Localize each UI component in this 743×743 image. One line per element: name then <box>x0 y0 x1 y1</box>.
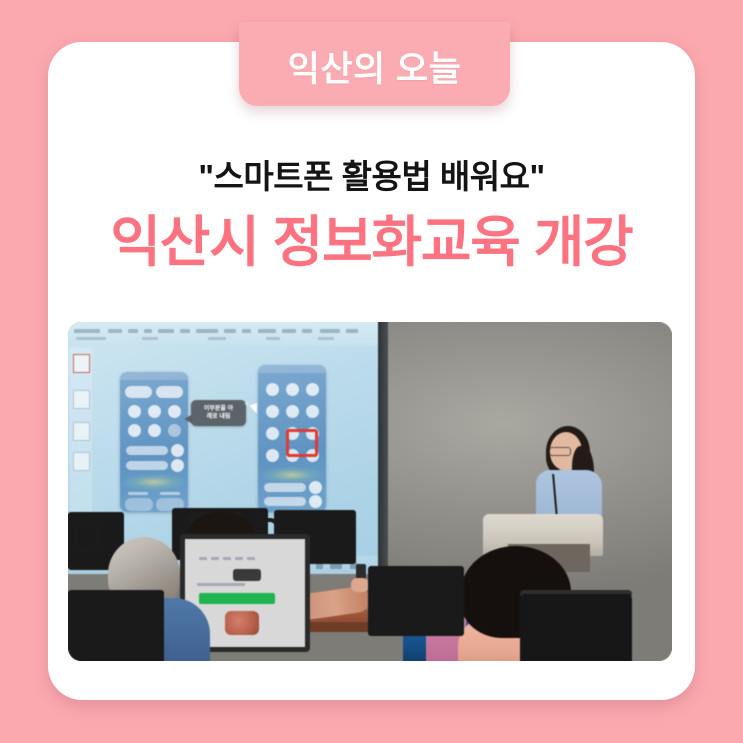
chair-backrest <box>520 594 632 661</box>
glasses-icon <box>549 447 571 456</box>
screen-image-thumb <box>225 611 259 635</box>
callout-bubble: 이부분을 아 래로 내림 <box>191 400 246 426</box>
screen-badge <box>233 569 261 581</box>
subtitle: "스마트폰 활용법 배워요" <box>48 158 695 196</box>
slide-toolbar <box>68 322 380 346</box>
student-hand <box>351 578 369 592</box>
monitor-right <box>368 566 464 636</box>
section-badge: 익산의 오늘 <box>239 22 510 106</box>
monitor-front-left <box>68 590 164 661</box>
badge-label: 익산의 오늘 <box>288 42 462 87</box>
green-button-icon <box>199 593 275 604</box>
wall-edge <box>378 322 388 572</box>
phone-mockup-left <box>120 372 188 512</box>
callout-text: 이부분을 아 래로 내림 <box>204 405 233 421</box>
highlight-box-icon <box>286 429 318 457</box>
page-title: 익산시 정보화교육 개강 <box>48 212 695 273</box>
headphones-icon-1 <box>74 518 100 552</box>
poster-root: 익산의 오늘 "스마트폰 활용법 배워요" 익산시 정보화교육 개강 <box>0 0 743 743</box>
photo-content: 이부분을 아 래로 내림 + <box>68 322 672 661</box>
plus-marker-icon: + <box>244 400 249 409</box>
classroom-photo: 이부분을 아 래로 내림 + <box>68 322 672 661</box>
